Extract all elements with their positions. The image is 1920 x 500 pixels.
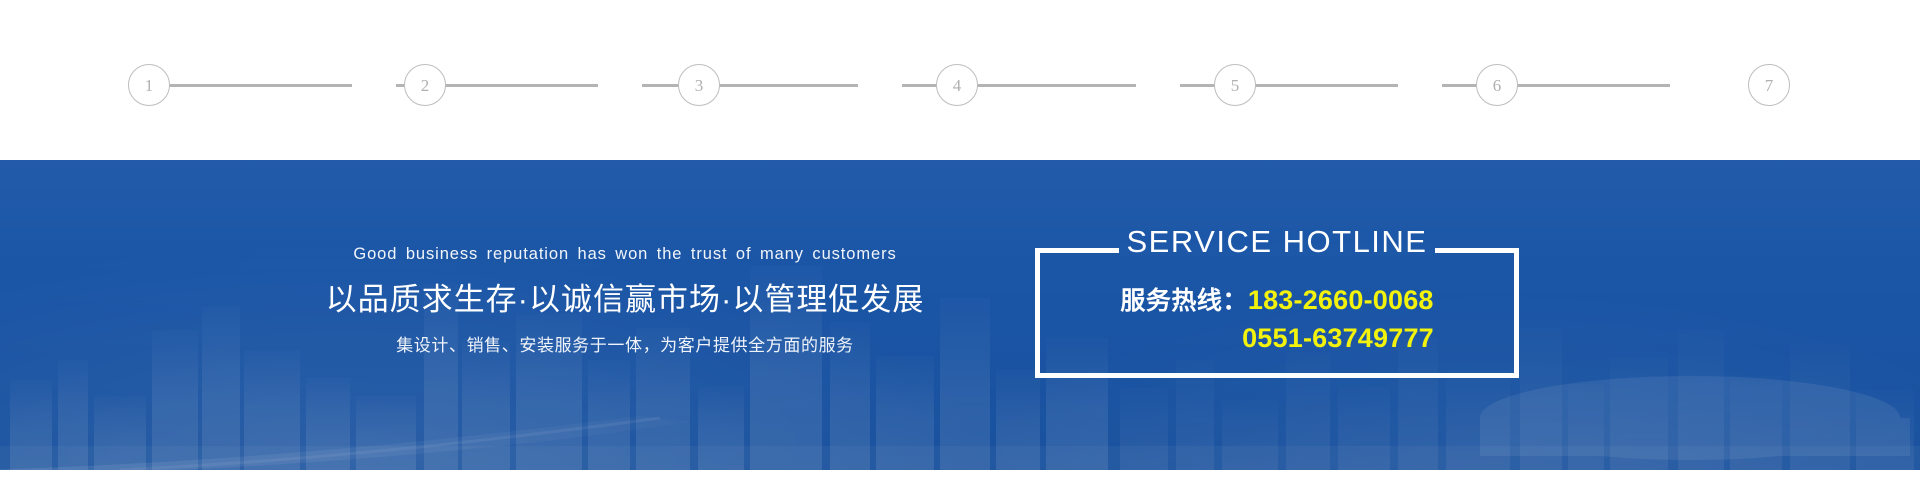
hotline-number-secondary[interactable]: 0551-63749777: [1242, 323, 1434, 353]
step-node-1-label: 1: [145, 77, 154, 94]
hotline-primary-row: 服务热线：183-2660-0068: [1035, 284, 1519, 317]
step-node-3-label: 3: [695, 77, 704, 94]
step-node-2-label: 2: [421, 77, 430, 94]
slogan-chinese-main: 以品质求生存·以诚信赢市场·以管理促发展: [305, 281, 945, 318]
slogan-block: Good business reputation has won the tru…: [305, 245, 945, 356]
step-indicator: 1 2 3 4 5 6 7: [0, 0, 1920, 160]
city-skyline-image: [0, 210, 1920, 470]
step-connector-3-4: [642, 84, 858, 87]
hotline-secondary-row: 0551-63749777: [1035, 322, 1519, 355]
banner-band: Good business reputation has won the tru…: [0, 160, 1920, 470]
step-connector-1-2: [150, 84, 352, 87]
step-node-5[interactable]: 5: [1214, 64, 1256, 106]
step-node-5-label: 5: [1231, 77, 1240, 94]
step-node-7-label: 7: [1765, 77, 1774, 94]
page-root: 1 2 3 4 5 6 7: [0, 0, 1920, 500]
step-node-3[interactable]: 3: [678, 64, 720, 106]
step-node-7[interactable]: 7: [1748, 64, 1790, 106]
step-node-6-label: 6: [1493, 77, 1502, 94]
step-node-4-label: 4: [953, 77, 962, 94]
step-node-6[interactable]: 6: [1476, 64, 1518, 106]
service-hotline-box: SERVICE HOTLINE 服务热线：183-2660-0068 0551-…: [1035, 248, 1519, 378]
hotline-label: 服务热线：: [1120, 287, 1248, 315]
slogan-chinese-sub: 集设计、销售、安装服务于一体，为客户提供全方面的服务: [305, 336, 945, 356]
hotline-number-primary[interactable]: 183-2660-0068: [1248, 285, 1434, 315]
step-node-2[interactable]: 2: [404, 64, 446, 106]
step-node-4[interactable]: 4: [936, 64, 978, 106]
hotline-title: SERVICE HOTLINE: [1035, 226, 1519, 257]
slogan-english: Good business reputation has won the tru…: [305, 245, 945, 265]
step-node-1[interactable]: 1: [128, 64, 170, 106]
step-connector-5-6: [1180, 84, 1398, 87]
banner-gradient-overlay: [0, 160, 1920, 470]
